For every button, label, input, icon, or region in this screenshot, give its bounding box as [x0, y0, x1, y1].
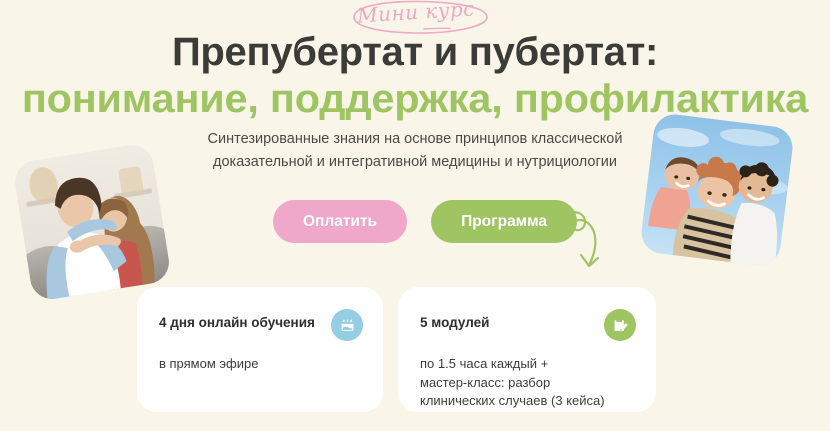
photo-teenagers	[639, 112, 795, 268]
mother-hugging-daughter-photo	[12, 142, 172, 302]
info-card-days: 4 дня онлайн обучения в прямом эфире	[137, 287, 383, 412]
pay-button[interactable]: Оплатить	[273, 200, 407, 243]
info-card-days-header: 4 дня онлайн обучения	[159, 309, 363, 341]
page-title-line2: понимание, поддержка, профилактика	[0, 76, 830, 122]
info-card-days-body: в прямом эфире	[159, 355, 363, 374]
info-card-modules-body-line2: мастер-класс: разбор	[420, 374, 636, 393]
calendar-icon	[331, 309, 363, 341]
info-card-modules-body: по 1.5 часа каждый + мастер-класс: разбо…	[420, 355, 636, 411]
document-edit-icon-glyph	[612, 317, 629, 334]
page-title: Препубертат и пубертат: понимание, подде…	[0, 28, 830, 122]
info-card-modules-header: 5 модулей	[420, 309, 636, 341]
calendar-icon-glyph	[339, 317, 356, 334]
curved-arrow-icon	[556, 203, 626, 283]
three-smiling-teenagers-photo	[639, 112, 795, 268]
page-subtitle-line2: доказательной и интегративной медицины и…	[165, 151, 665, 174]
hero-section: Мини курс Препубертат и пубертат: понима…	[0, 0, 830, 431]
page-subtitle: Синтезированные знания на основе принцип…	[165, 128, 665, 174]
info-card-modules-body-line1: по 1.5 часа каждый +	[420, 355, 636, 374]
info-card-modules: 5 модулей по 1.5 часа каждый + мастер-кл…	[398, 287, 656, 412]
info-card-days-title: 4 дня онлайн обучения	[159, 309, 315, 332]
page-title-line1: Препубертат и пубертат:	[0, 28, 830, 76]
page-subtitle-line1: Синтезированные знания на основе принцип…	[165, 128, 665, 151]
info-card-modules-title: 5 модулей	[420, 309, 489, 332]
info-card-days-body-line: в прямом эфире	[159, 355, 363, 374]
info-card-modules-body-line3: клинических случаев (3 кейса)	[420, 392, 636, 411]
photo-mother-daughter	[12, 142, 172, 302]
document-edit-icon	[604, 309, 636, 341]
